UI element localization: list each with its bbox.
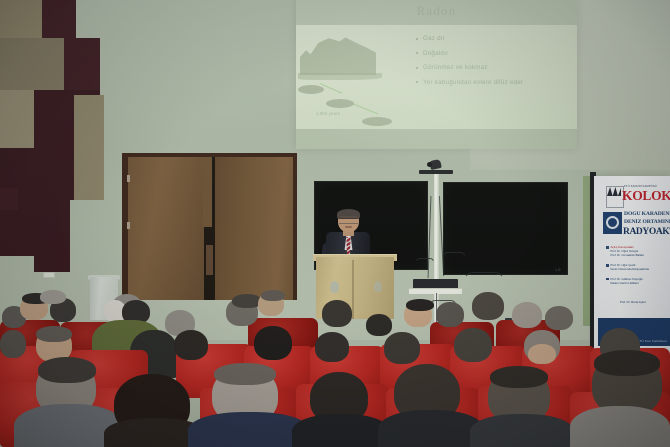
audience-shoulders — [470, 414, 574, 447]
poster-program-item: Açılış Konuşmaları Prof. Dr. Oğuz Güngör… — [606, 245, 668, 258]
slide-bullet-item: Yer kabuğundan evlere difüz eder — [416, 79, 576, 86]
decay-node-radon — [326, 99, 354, 108]
podium-edge — [352, 260, 354, 319]
ground-illustration — [298, 73, 382, 80]
display-brand-label: LG — [556, 268, 561, 272]
projection-screen: 1.600 years 4,5 billion years Gaz dır Do… — [296, 0, 577, 149]
decay-node-radium — [298, 85, 324, 94]
wall-panel-tan-4 — [74, 95, 104, 200]
camera-lens-icon — [427, 162, 432, 167]
door-panel-right[interactable] — [215, 157, 293, 300]
poster-bullet-icon — [606, 246, 609, 249]
slide-title: Radon — [296, 3, 577, 19]
door-gap-fill-upper — [203, 157, 212, 227]
slide-bullet-list: Gaz dır Doğaldır Görünmez ve kokmaz Yer … — [416, 35, 576, 93]
bullet-dot-icon — [416, 52, 418, 54]
bullet-dot-icon — [416, 38, 418, 40]
bullet-dot-icon — [416, 67, 418, 69]
speaker-mouth — [345, 226, 352, 228]
decay-link-2 — [352, 103, 378, 114]
poster-bullet-icon — [606, 278, 609, 281]
slide-bullet-text: Yer kabuğundan evlere difüz eder — [423, 79, 523, 86]
slide-bullet-item: Doğaldır — [416, 50, 576, 57]
poster-atom-logo-icon — [603, 212, 622, 234]
audience-shoulders — [292, 414, 390, 447]
audience-head — [0, 330, 26, 358]
audience-hair — [406, 299, 434, 311]
camera-mount-plate — [419, 170, 453, 174]
audience-head — [384, 332, 420, 364]
wall-panel-maroon-2 — [64, 38, 100, 90]
poster-subtitle-line1: DOĞU KARADENİZ BÖLGESİ — [624, 211, 670, 217]
poster-bullet-icon — [606, 264, 609, 267]
wall-panel-tan-3 — [0, 90, 34, 148]
poster-program-list: Açılış Konuşmaları Prof. Dr. Oğuz Güngör… — [606, 245, 668, 291]
audience-head — [545, 306, 573, 330]
wall-panel-maroon-1 — [42, 0, 76, 38]
slide-bullet-item: Görünmez ve kokmaz — [416, 64, 576, 71]
audience-hair — [261, 290, 285, 301]
poster-subtitle-line2: DENİZ ORTAMINDA — [624, 219, 670, 225]
screen-bottom-band — [296, 129, 577, 149]
bullet-dot-icon — [416, 81, 418, 83]
slide-bullet-text: Gaz dır — [423, 35, 445, 42]
wall-panel-tan-2 — [0, 38, 64, 90]
poster-footer-text: KTÜ Fen Fakültesi — [637, 339, 667, 343]
poster-program-item: Prof. Dr. Uğur Çevik Deniz Ortamında Rad… — [606, 263, 668, 271]
poster-program-sub1: Radon Gazının Etkileri — [611, 281, 643, 285]
audience-head — [322, 300, 352, 327]
podium-emblem-right — [374, 281, 382, 292]
podium-emblem-left — [330, 281, 339, 293]
audience-head — [454, 328, 492, 362]
wall-panel-tan-1 — [0, 0, 42, 38]
audience-head — [366, 314, 392, 336]
slide-bullet-text: Doğaldır — [423, 50, 448, 57]
screen-slide-area: 1.600 years 4,5 billion years Gaz dır Do… — [296, 25, 577, 129]
slide-bullet-text: Görünmez ve kokmaz — [423, 64, 488, 71]
audience-head — [254, 326, 292, 360]
eyeglasses-icon — [339, 218, 358, 224]
poster-subtitle-line3: RADYOAKTİVİTE — [623, 227, 670, 237]
audience-face — [528, 344, 556, 364]
audience-hair — [36, 326, 72, 342]
door-panel-left[interactable] — [128, 157, 204, 300]
poster-program-sub2: Prof. Dr. Cemalettin Baltacı — [611, 253, 645, 257]
wall-panel-maroon-7 — [0, 188, 18, 210]
audience-hair — [38, 357, 96, 383]
house-illustration-icon — [300, 35, 376, 75]
decay-node-uranium — [362, 117, 392, 126]
audience-head — [436, 302, 464, 327]
audience-shoulders — [378, 410, 484, 447]
slide-diagram: 1.600 years 4,5 billion years — [298, 33, 416, 138]
door-hinge-bottom — [127, 222, 130, 229]
poster-program-item: Prof. Dr. Gökhan Kılıçoğlu Radon Gazının… — [606, 277, 668, 285]
door-gap-fill-lower — [206, 245, 213, 275]
poster-program-sub1: Deniz Ortamında Radyoaktivite — [611, 267, 650, 271]
audience-head — [40, 290, 66, 304]
wall-panel-maroon-6 — [34, 200, 70, 272]
slide-bullet-item: Gaz dır — [416, 35, 576, 42]
audience-hair — [594, 350, 660, 376]
wall-socket-plate — [43, 272, 55, 278]
audience-hair — [214, 363, 276, 385]
decay-label-1: 1.600 years — [316, 111, 340, 116]
poster-signature: Prof. Dr. Murat Aykut — [620, 300, 646, 304]
door-hinge-top — [127, 175, 130, 182]
conference-hall-photo: 1.600 years 4,5 billion years Gaz dır Do… — [0, 0, 670, 447]
audience-head — [512, 302, 542, 328]
audience-shoulders-grey — [570, 406, 670, 447]
audience-head — [472, 292, 504, 320]
audience-head — [174, 330, 208, 360]
audience-hair — [490, 366, 548, 388]
poster-title: KOLOKYUM — [622, 188, 670, 204]
audience-head — [315, 332, 349, 362]
